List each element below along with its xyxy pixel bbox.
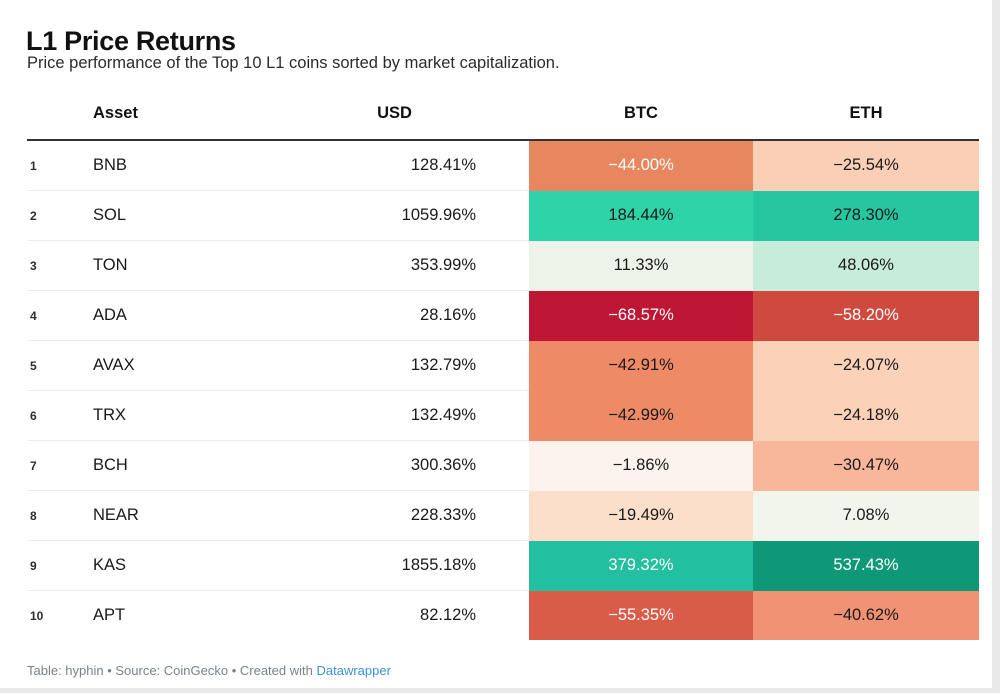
column-header-rank[interactable] <box>27 104 64 140</box>
cell-rank: 6 <box>27 391 64 441</box>
cell-usd: 128.41% <box>260 140 529 191</box>
table-header-row: Asset USD BTC ETH <box>27 104 979 140</box>
cell-usd: 1059.96% <box>260 191 529 241</box>
cell-eth-return: −40.62% <box>753 591 979 641</box>
table-header: Asset USD BTC ETH <box>27 104 979 140</box>
cell-btc-return: −55.35% <box>529 591 753 641</box>
cell-btc-return: 379.32% <box>529 541 753 591</box>
cell-eth-return: 278.30% <box>753 191 979 241</box>
column-header-asset[interactable]: Asset <box>64 104 260 140</box>
cell-rank: 4 <box>27 291 64 341</box>
returns-table: Asset USD BTC ETH 1BNB128.41%−44.00%−25.… <box>27 104 979 640</box>
cell-rank: 5 <box>27 341 64 391</box>
page-title: L1 Price Returns <box>26 26 236 57</box>
table-row: 10APT82.12%−55.35%−40.62% <box>27 591 979 641</box>
footer-credit-text: Table: hyphin • Source: CoinGecko • Crea… <box>27 663 316 678</box>
cell-eth-return: −24.18% <box>753 391 979 441</box>
cell-rank: 1 <box>27 140 64 191</box>
cell-rank: 7 <box>27 441 64 491</box>
cell-eth-return: −24.07% <box>753 341 979 391</box>
cell-asset: AVAX <box>64 341 260 391</box>
table-row: 5AVAX132.79%−42.91%−24.07% <box>27 341 979 391</box>
cell-asset: TON <box>64 241 260 291</box>
cell-asset: BNB <box>64 140 260 191</box>
cell-usd: 132.49% <box>260 391 529 441</box>
datawrapper-link[interactable]: Datawrapper <box>316 663 390 678</box>
cell-btc-return: −1.86% <box>529 441 753 491</box>
cell-asset: ADA <box>64 291 260 341</box>
table-row: 4ADA28.16%−68.57%−58.20% <box>27 291 979 341</box>
canvas-edge-right <box>992 0 1000 693</box>
column-header-btc[interactable]: BTC <box>529 104 753 140</box>
column-header-usd[interactable]: USD <box>260 104 529 140</box>
cell-eth-return: −30.47% <box>753 441 979 491</box>
table-row: 6TRX132.49%−42.99%−24.18% <box>27 391 979 441</box>
cell-usd: 300.36% <box>260 441 529 491</box>
canvas-edge-bottom <box>0 688 1000 693</box>
cell-btc-return: −19.49% <box>529 491 753 541</box>
cell-asset: KAS <box>64 541 260 591</box>
cell-rank: 2 <box>27 191 64 241</box>
cell-usd: 228.33% <box>260 491 529 541</box>
cell-usd: 82.12% <box>260 591 529 641</box>
table-row: 8NEAR228.33%−19.49%7.08% <box>27 491 979 541</box>
chart-canvas: L1 Price Returns Price performance of th… <box>0 0 1000 693</box>
cell-asset: TRX <box>64 391 260 441</box>
cell-usd: 1855.18% <box>260 541 529 591</box>
cell-asset: APT <box>64 591 260 641</box>
table-row: 9KAS1855.18%379.32%537.43% <box>27 541 979 591</box>
cell-eth-return: −25.54% <box>753 140 979 191</box>
cell-btc-return: −42.99% <box>529 391 753 441</box>
table-body: 1BNB128.41%−44.00%−25.54%2SOL1059.96%184… <box>27 140 979 640</box>
cell-rank: 8 <box>27 491 64 541</box>
table-row: 2SOL1059.96%184.44%278.30% <box>27 191 979 241</box>
cell-asset: NEAR <box>64 491 260 541</box>
cell-eth-return: −58.20% <box>753 291 979 341</box>
cell-btc-return: 184.44% <box>529 191 753 241</box>
cell-btc-return: −44.00% <box>529 140 753 191</box>
footer-credit: Table: hyphin • Source: CoinGecko • Crea… <box>27 663 391 678</box>
cell-asset: BCH <box>64 441 260 491</box>
cell-eth-return: 537.43% <box>753 541 979 591</box>
cell-btc-return: 11.33% <box>529 241 753 291</box>
page-subtitle: Price performance of the Top 10 L1 coins… <box>27 54 560 73</box>
cell-rank: 3 <box>27 241 64 291</box>
column-header-eth[interactable]: ETH <box>753 104 979 140</box>
cell-usd: 28.16% <box>260 291 529 341</box>
cell-usd: 132.79% <box>260 341 529 391</box>
table-row: 1BNB128.41%−44.00%−25.54% <box>27 140 979 191</box>
cell-asset: SOL <box>64 191 260 241</box>
cell-rank: 10 <box>27 591 64 641</box>
table-row: 3TON353.99%11.33%48.06% <box>27 241 979 291</box>
cell-usd: 353.99% <box>260 241 529 291</box>
table-row: 7BCH300.36%−1.86%−30.47% <box>27 441 979 491</box>
cell-rank: 9 <box>27 541 64 591</box>
cell-btc-return: −68.57% <box>529 291 753 341</box>
cell-eth-return: 48.06% <box>753 241 979 291</box>
cell-eth-return: 7.08% <box>753 491 979 541</box>
cell-btc-return: −42.91% <box>529 341 753 391</box>
